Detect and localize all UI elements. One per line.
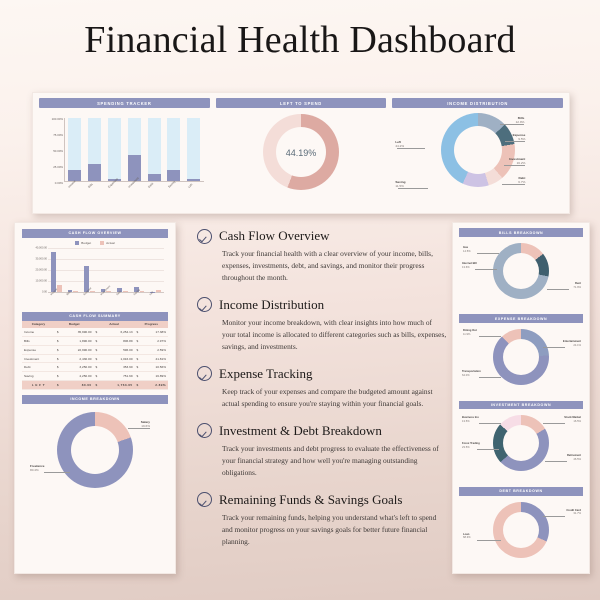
cash-flow-x-labels: Income Bills Expense Investment Debt Sav… bbox=[48, 294, 164, 308]
spending-bars bbox=[64, 118, 204, 182]
bar-group bbox=[167, 118, 180, 181]
dashboard-mockup: Financial Health Dashboard SPENDING TRAC… bbox=[0, 0, 600, 600]
feature-item: Cash Flow Overview Track your financial … bbox=[197, 228, 447, 284]
slice-label-saving: Saving11.5% bbox=[395, 180, 405, 188]
leader-line bbox=[477, 449, 499, 450]
slice-label-stock-market: Stock Market16.5% bbox=[541, 416, 581, 423]
bar-group bbox=[88, 118, 101, 181]
slice-label-loan: Loan68.3% bbox=[463, 533, 471, 540]
left-to-spend-value: 44.19% bbox=[216, 148, 387, 158]
y-tick: 40,000.00 bbox=[22, 246, 47, 249]
spending-x-labels: Income Bills Expenses Investment Debt Sa… bbox=[64, 184, 204, 206]
feature-body: Track your financial health with a clear… bbox=[222, 248, 447, 284]
bar-group bbox=[83, 248, 96, 292]
bar-group bbox=[149, 248, 162, 292]
debt-breakdown-panel: DEBT BREAKDOWN Credit Card31.7% Loan68.3… bbox=[459, 487, 583, 568]
investment-breakdown-header: INVESTMENT BREAKDOWN bbox=[459, 401, 583, 410]
spending-tracker-header: SPENDING TRACKER bbox=[39, 98, 210, 108]
feature-body: Track your investments and debt progress… bbox=[222, 443, 447, 479]
leader-line bbox=[477, 253, 499, 254]
y-tick: 75.00% bbox=[39, 133, 63, 137]
leader-line bbox=[479, 423, 501, 424]
slice-label-salary: Salary19.6% bbox=[120, 420, 150, 428]
top-banner-card: SPENDING TRACKER 100.00% 75.00% 50.00% 2… bbox=[32, 92, 570, 214]
table-row: Bills$1,890.00$806.89$2.97% bbox=[22, 337, 168, 346]
page-title: Financial Health Dashboard bbox=[0, 18, 600, 62]
bar-group bbox=[68, 118, 81, 181]
col-category: Category bbox=[22, 321, 55, 329]
leader-line bbox=[477, 540, 501, 541]
left-document-card: CASH FLOW OVERVIEW Budget Actual 40,000.… bbox=[14, 222, 176, 574]
investment-breakdown-panel: INVESTMENT BREAKDOWN Business Inv.13.5% … bbox=[459, 401, 583, 482]
slice-label-bills: Bills12.9% bbox=[484, 116, 524, 124]
spending-tracker-chart: 100.00% 75.00% 50.00% 25.00% 0.00% bbox=[39, 108, 210, 208]
bar-group bbox=[187, 118, 200, 181]
cash-flow-overview-chart: 40,000.00 30,000.00 20,000.00 10,000.00 … bbox=[22, 246, 168, 308]
expense-breakdown-donut bbox=[493, 329, 549, 385]
slice-label-expense: Expense9.5% bbox=[485, 133, 525, 141]
slice-label-freelance: Freelance80.4% bbox=[30, 464, 44, 472]
table-row: Debt$3,250.00$353.90$10.56% bbox=[22, 363, 168, 372]
feature-title: Income Distribution bbox=[219, 297, 324, 313]
bills-breakdown-panel: BILLS BREAKDOWN Gas14.5% Internet Bill13… bbox=[459, 228, 583, 309]
table-total-row: L E F T$80.00$1,763.65$2.89% bbox=[22, 381, 168, 390]
bar-group bbox=[108, 118, 121, 181]
slice-label-business-investment: Business Inv.13.5% bbox=[462, 416, 479, 423]
slice-label-entertainment: Entertainment24.1% bbox=[541, 340, 581, 347]
features-list: Cash Flow Overview Track your financial … bbox=[197, 228, 447, 561]
col-actual: Actual bbox=[93, 321, 134, 329]
y-tick: 30,000.00 bbox=[22, 257, 47, 260]
y-tick: 0.00% bbox=[39, 181, 63, 185]
income-breakdown-chart: Salary19.6% Freelance80.4% bbox=[22, 404, 168, 500]
slice-label-forex-trading: Forex Trading23.5% bbox=[462, 442, 480, 449]
bills-breakdown-chart: Gas14.5% Internet Bill13.6% Rent71.9% bbox=[459, 237, 583, 309]
feature-title: Investment & Debt Breakdown bbox=[219, 423, 382, 439]
cash-flow-overview-header: CASH FLOW OVERVIEW bbox=[22, 229, 168, 238]
legend-item-budget: Budget bbox=[75, 241, 91, 245]
table-row: Investment$2,430.00$1,016.00$41.81% bbox=[22, 354, 168, 363]
income-distribution-panel: INCOME DISTRIBUTION Bills12.9% Expense9.… bbox=[392, 98, 563, 208]
cash-flow-legend: Budget Actual bbox=[22, 241, 168, 245]
feature-title: Cash Flow Overview bbox=[219, 228, 330, 244]
right-document-card: BILLS BREAKDOWN Gas14.5% Internet Bill13… bbox=[452, 222, 590, 574]
feature-body: Keep track of your expenses and compare … bbox=[222, 386, 447, 410]
expense-breakdown-header: EXPENSE BREAKDOWN bbox=[459, 314, 583, 323]
feature-body: Track your remaining funds, helping you … bbox=[222, 512, 447, 548]
y-tick: 100.00% bbox=[39, 117, 63, 121]
feature-item: Income Distribution Monitor your income … bbox=[197, 297, 447, 353]
feature-body: Monitor your income breakdown, with clea… bbox=[222, 317, 447, 353]
table-header-row: Category Budget Actual Progress bbox=[22, 321, 168, 329]
income-breakdown-header: INCOME BREAKDOWN bbox=[22, 395, 168, 404]
bar-group bbox=[148, 118, 161, 181]
feature-title: Expense Tracking bbox=[219, 366, 313, 382]
left-to-spend-panel: LEFT TO SPEND 44.19% bbox=[216, 98, 387, 208]
spending-tracker-panel: SPENDING TRACKER 100.00% 75.00% 50.00% 2… bbox=[39, 98, 210, 208]
bar-group bbox=[50, 248, 63, 292]
col-progress: Progress bbox=[135, 321, 168, 329]
check-circle-icon bbox=[197, 297, 212, 312]
cash-flow-summary-table: Category Budget Actual Progress Income$3… bbox=[22, 321, 168, 390]
slice-label-dining-out: Dining Out11.9% bbox=[463, 329, 477, 336]
slice-label-internet-bill: Internet Bill13.6% bbox=[462, 262, 477, 269]
slice-label-investment: Investment16.2% bbox=[482, 157, 525, 165]
bills-breakdown-donut bbox=[493, 243, 549, 299]
leader-line bbox=[475, 269, 497, 270]
feature-item: Investment & Debt Breakdown Track your i… bbox=[197, 423, 447, 479]
slice-label-rent: Rent71.9% bbox=[545, 282, 581, 289]
feature-title: Remaining Funds & Savings Goals bbox=[219, 492, 402, 508]
bar-group bbox=[116, 248, 129, 292]
legend-item-actual: Actual bbox=[100, 241, 115, 245]
bar-group bbox=[133, 248, 146, 292]
investment-breakdown-chart: Business Inv.13.5% Stock Market16.5% Ret… bbox=[459, 409, 583, 481]
leader-line bbox=[44, 472, 70, 473]
slice-label-transportation: Transportation64.0% bbox=[462, 370, 481, 377]
income-distribution-chart: Bills12.9% Expense9.5% Investment16.2% D… bbox=[392, 108, 563, 208]
table-row: Income$35,990.00$6,254.13$17.38% bbox=[22, 328, 168, 336]
slice-label-retirement: Retirement46.5% bbox=[541, 454, 581, 461]
feature-item: Expense Tracking Keep track of your expe… bbox=[197, 366, 447, 410]
debt-breakdown-chart: Credit Card31.7% Loan68.3% bbox=[459, 496, 583, 568]
expense-breakdown-panel: EXPENSE BREAKDOWN Dining Out11.9% Entert… bbox=[459, 314, 583, 395]
slice-label-gas: Gas14.5% bbox=[463, 246, 471, 253]
feature-item: Remaining Funds & Savings Goals Track yo… bbox=[197, 492, 447, 548]
bar-group bbox=[128, 118, 141, 181]
table-row: Expense$22,990.00$596.00$2.59% bbox=[22, 345, 168, 354]
y-tick: 0.00 bbox=[22, 290, 47, 293]
check-circle-icon bbox=[197, 366, 212, 381]
y-tick: 50.00% bbox=[39, 149, 63, 153]
income-distribution-header: INCOME DISTRIBUTION bbox=[392, 98, 563, 108]
check-circle-icon bbox=[197, 423, 212, 438]
left-to-spend-header: LEFT TO SPEND bbox=[216, 98, 387, 108]
cash-flow-summary-header: CASH FLOW SUMMARY bbox=[22, 312, 168, 321]
slice-label-debt: Debt6.7% bbox=[485, 176, 525, 184]
check-circle-icon bbox=[197, 229, 212, 244]
investment-breakdown-donut bbox=[493, 415, 549, 471]
check-circle-icon bbox=[197, 492, 212, 507]
y-tick: 25.00% bbox=[39, 165, 63, 169]
y-tick: 10,000.00 bbox=[22, 279, 47, 282]
table-row: Saving$4,250.00$751.69$16.89% bbox=[22, 372, 168, 381]
bills-breakdown-header: BILLS BREAKDOWN bbox=[459, 228, 583, 237]
expense-breakdown-chart: Dining Out11.9% Entertainment24.1% Trans… bbox=[459, 323, 583, 395]
leader-line bbox=[479, 377, 501, 378]
leader-line bbox=[479, 336, 501, 337]
slice-label-credit-card: Credit Card31.7% bbox=[539, 509, 581, 516]
left-to-spend-chart: 44.19% bbox=[216, 108, 387, 208]
y-tick: 20,000.00 bbox=[22, 268, 47, 271]
debt-breakdown-header: DEBT BREAKDOWN bbox=[459, 487, 583, 496]
slice-label-left: Left44.2% bbox=[395, 140, 404, 148]
col-budget: Budget bbox=[55, 321, 94, 329]
